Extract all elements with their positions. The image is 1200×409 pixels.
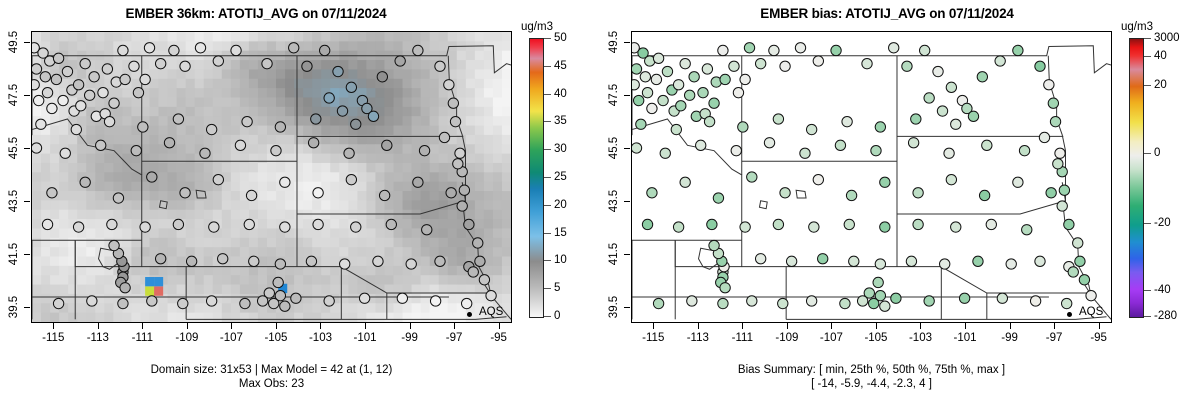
colorbar-tick (544, 149, 551, 150)
y-tick-mark (24, 148, 30, 149)
colorbar-tick (544, 66, 551, 67)
colorbar-tick-label: 0 (554, 310, 560, 322)
x-tick-mark (1054, 323, 1055, 329)
caption-bias-line2: [ -14, -5.9, -4.4, -2.3, 4 ] (600, 377, 1143, 391)
x-tick-label: -103 (909, 332, 932, 344)
x-tick-mark (698, 323, 699, 329)
aqs-legend-bias: AQS (1079, 306, 1103, 318)
y-tick-label: 43.5 (608, 190, 620, 212)
aqs-legend-model: AQS (479, 306, 503, 318)
x-tick-label: -113 (87, 332, 109, 344)
x-tick-label: -105 (864, 332, 887, 344)
colorbar-tick-label: 10 (554, 254, 567, 266)
caption-model-line2: Max Obs: 23 (0, 377, 543, 391)
x-tick-mark (53, 323, 54, 329)
y-tick-mark (624, 42, 630, 43)
colorbar-tick-label: 45 (554, 60, 567, 72)
y-tick-mark (624, 201, 630, 202)
colorbar-tick-label: 40 (554, 88, 567, 100)
colorbar-unit-label: ug/m3 (1121, 21, 1153, 33)
x-tick-mark (1099, 323, 1100, 329)
y-tick-label: 49.5 (608, 30, 620, 52)
x-tick-label: -107 (220, 332, 243, 344)
y-tick-mark (24, 307, 30, 308)
y-tick-label: 45.5 (8, 137, 20, 159)
x-tick-label: -95 (490, 332, 507, 344)
colorbar-tick (544, 233, 551, 234)
x-tick-mark (142, 323, 143, 329)
aqs-dot-icon (467, 312, 472, 317)
colorbar-gradient (529, 38, 544, 318)
x-tick-label: -107 (820, 332, 843, 344)
y-tick-label: 39.5 (8, 296, 20, 318)
y-tick-mark (24, 201, 30, 202)
y-tick-mark (624, 254, 630, 255)
caption-model-line1: Domain size: 31x53 | Max Model = 42 at (… (0, 363, 543, 377)
colorbar-tick-label: -20 (1154, 217, 1171, 229)
colorbar-tick-label: -280 (1154, 310, 1177, 322)
colorbar-tick-label: 50 (554, 32, 567, 44)
map-canvas-model (32, 32, 511, 322)
y-tick-mark (624, 307, 630, 308)
colorbar-gradient (1129, 38, 1144, 318)
colorbar-tick (1144, 153, 1151, 154)
colorbar-tick (544, 121, 551, 122)
colorbar-tick (1144, 56, 1151, 57)
colorbar-tick (544, 260, 551, 261)
x-tick-mark (410, 323, 411, 329)
x-tick-label: -99 (401, 332, 418, 344)
colorbar-tick-label: 20 (554, 199, 567, 211)
colorbar-tick (544, 94, 551, 95)
y-tick-mark (624, 95, 630, 96)
x-tick-label: -105 (264, 332, 287, 344)
y-tick-label: 41.5 (608, 243, 620, 265)
x-tick-label: -99 (1001, 332, 1018, 344)
map-canvas-bias (632, 32, 1111, 322)
x-tick-mark (499, 323, 500, 329)
figure-root: EMBER 36km: ATOTIJ_AVG on 07/11/2024 49.… (0, 0, 1200, 409)
x-tick-mark (454, 323, 455, 329)
x-tick-label: -101 (354, 332, 377, 344)
map-plot-bias (631, 31, 1112, 323)
colorbar-tick-label: 20 (1154, 79, 1167, 91)
colorbar-tick (1144, 38, 1151, 39)
aqs-legend-label: AQS (1079, 306, 1103, 318)
y-tick-mark (24, 42, 30, 43)
x-tick-mark (787, 323, 788, 329)
x-tick-mark (187, 323, 188, 329)
colorbar-tick (544, 205, 551, 206)
x-tick-mark (831, 323, 832, 329)
colorbar-tick-label: 5 (554, 282, 560, 294)
map-plot-model (31, 31, 512, 323)
y-tick-label: 43.5 (8, 190, 20, 212)
colorbar-tick-label: 3000 (1154, 32, 1180, 44)
x-tick-label: -97 (446, 332, 463, 344)
x-tick-mark (276, 323, 277, 329)
x-tick-label: -115 (42, 332, 64, 344)
panel-model: EMBER 36km: ATOTIJ_AVG on 07/11/2024 49.… (0, 0, 600, 409)
x-tick-mark (965, 323, 966, 329)
colorbar-tick-label: 25 (554, 171, 567, 183)
x-tick-mark (742, 323, 743, 329)
aqs-legend-label: AQS (479, 306, 503, 318)
x-tick-mark (920, 323, 921, 329)
colorbar-tick-label: -40 (1154, 284, 1171, 296)
x-tick-label: -97 (1046, 332, 1063, 344)
x-tick-label: -113 (687, 332, 709, 344)
colorbar-tick (544, 38, 551, 39)
x-tick-label: -95 (1090, 332, 1107, 344)
y-tick-label: 49.5 (8, 30, 20, 52)
x-tick-label: -111 (732, 332, 753, 344)
x-tick-mark (1010, 323, 1011, 329)
panel-bias: EMBER bias: ATOTIJ_AVG on 07/11/2024 49.… (600, 0, 1200, 409)
x-tick-label: -111 (132, 332, 153, 344)
colorbar-tick-label: 35 (554, 115, 567, 127)
colorbar-tick (544, 288, 551, 289)
y-tick-label: 47.5 (8, 84, 20, 106)
y-tick-label: 45.5 (608, 137, 620, 159)
x-tick-mark (653, 323, 654, 329)
y-tick-mark (624, 148, 630, 149)
x-tick-label: -109 (175, 332, 198, 344)
x-tick-label: -109 (775, 332, 798, 344)
colorbar-tick-label: 40 (1154, 50, 1167, 62)
aqs-dot-icon (1067, 312, 1072, 317)
y-tick-mark (24, 254, 30, 255)
x-tick-label: -101 (954, 332, 977, 344)
x-tick-mark (365, 323, 366, 329)
caption-bias-line1: Bias Summary: [ min, 25th %, 50th %, 75t… (600, 363, 1143, 377)
colorbar-tick (1144, 85, 1151, 86)
y-tick-label: 41.5 (8, 243, 20, 265)
x-tick-label: -115 (642, 332, 664, 344)
x-tick-mark (876, 323, 877, 329)
y-tick-mark (24, 95, 30, 96)
x-tick-mark (320, 323, 321, 329)
panel-title-bias: EMBER bias: ATOTIJ_AVG on 07/11/2024 (631, 6, 1143, 21)
colorbar-tick (1144, 223, 1151, 224)
x-tick-label: -103 (309, 332, 332, 344)
x-tick-mark (231, 323, 232, 329)
x-tick-mark (98, 323, 99, 329)
colorbar-tick-label: 30 (554, 143, 567, 155)
colorbar-tick (1144, 316, 1151, 317)
colorbar-unit-label: ug/m3 (521, 21, 553, 33)
panel-title-model: EMBER 36km: ATOTIJ_AVG on 07/11/2024 (0, 6, 512, 21)
y-tick-label: 39.5 (608, 296, 620, 318)
y-tick-label: 47.5 (608, 84, 620, 106)
model-raster-field (32, 32, 511, 322)
colorbar-tick-label: 0 (1154, 147, 1160, 159)
colorbar-tick (544, 177, 551, 178)
colorbar-tick (1144, 290, 1151, 291)
colorbar-tick-label: 15 (554, 227, 567, 239)
colorbar-tick (544, 316, 551, 317)
